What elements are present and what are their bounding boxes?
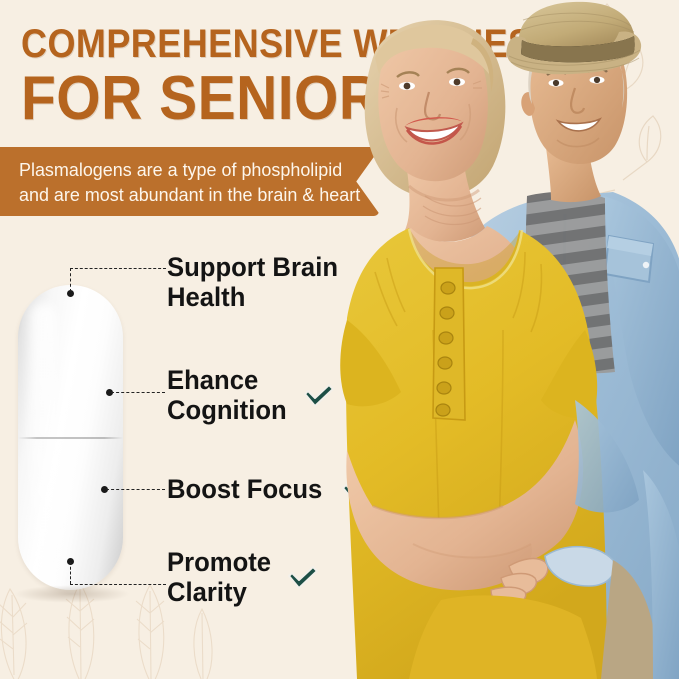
feature-promote-clarity: Promote Clarity (167, 547, 320, 607)
capsule-illustration (18, 285, 123, 605)
leaf-line-art-icon (545, 0, 679, 196)
feature-label: Ehance Cognition (167, 365, 287, 425)
leaf-line-art-icon (559, 539, 679, 679)
capsule-shadow (14, 585, 130, 603)
check-icon (340, 476, 374, 502)
headline-line-2: FOR SENIORS (21, 70, 481, 128)
feature-label: Support Brain Health (167, 252, 338, 312)
feature-label: Boost Focus (167, 474, 322, 504)
check-icon (286, 564, 320, 590)
headline-line-1: COMPREHENSIVE WELLNESS (21, 22, 471, 66)
feature-boost-focus: Boost Focus (167, 474, 374, 504)
white-capsule (18, 285, 123, 590)
check-icon (302, 382, 336, 408)
tagline-line-2: and are most abundant in the brain & hea… (19, 182, 329, 207)
capsule-highlight (30, 303, 56, 568)
check-icon (356, 269, 390, 295)
feature-label: Promote Clarity (167, 547, 271, 607)
feature-support-brain-health: Support Brain Health (167, 252, 390, 312)
infographic-canvas: COMPREHENSIVE WELLNESS FOR SENIORS Plasm… (0, 0, 679, 679)
tagline-line-1: Plasmalogens are a type of phospholipid (19, 157, 329, 182)
feature-enhance-cognition: Ehance Cognition (167, 365, 336, 425)
connector-segment-horizontal (70, 268, 166, 269)
headline-block: COMPREHENSIVE WELLNESS FOR SENIORS (21, 22, 521, 128)
tagline-banner: Plasmalogens are a type of phospholipid … (0, 147, 379, 216)
